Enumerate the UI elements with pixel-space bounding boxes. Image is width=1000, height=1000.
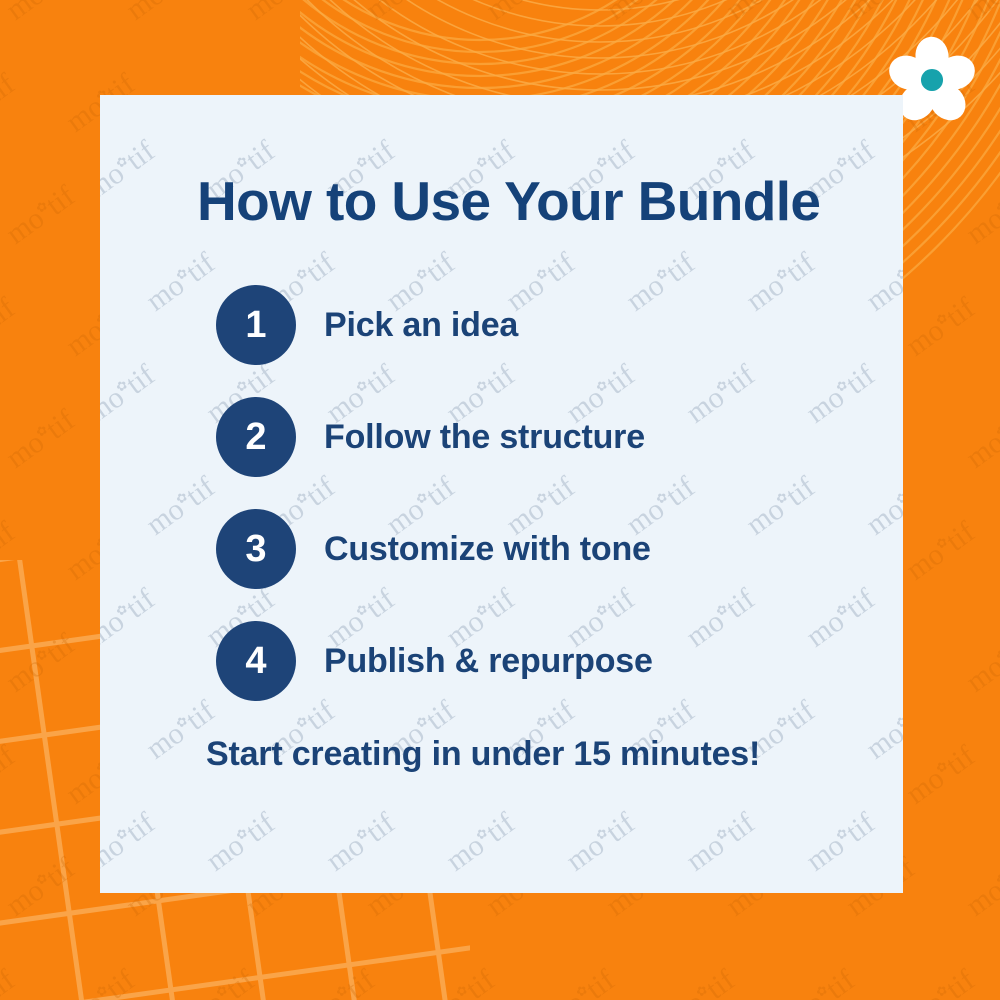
poster-canvas: mo✿tifmo✿tifmo✿tifmo✿tifmo✿tifmo✿tifmo✿t…	[0, 0, 1000, 1000]
watermark-motif: mo✿tif	[900, 515, 981, 587]
step-number-badge: 4	[216, 621, 296, 701]
watermark-motif: mo✿tif	[0, 627, 81, 699]
watermark-flower-dot: ✿	[33, 421, 51, 440]
watermark-motif: mo✿tif	[0, 291, 21, 363]
step-label: Customize with tone	[324, 530, 651, 569]
watermark-flower-dot: ✿	[933, 981, 951, 1000]
watermark-motif: mo✿tif	[840, 0, 921, 28]
watermark-flower-dot: ✿	[33, 645, 51, 664]
step-number-badge: 2	[216, 397, 296, 477]
list-item: 3 Customize with tone	[216, 509, 856, 589]
watermark-flower-dot: ✿	[93, 981, 111, 1000]
watermark-motif: mo✿tif	[960, 403, 1000, 475]
watermark-motif: mo✿tif	[900, 739, 981, 811]
watermark-motif: mo✿tif	[0, 403, 81, 475]
watermark-motif: mo✿tif	[900, 291, 981, 363]
watermark-motif: mo✿tif	[0, 851, 81, 923]
watermark-motif: mo✿tif	[300, 963, 381, 1000]
steps-list: 1 Pick an idea 2 Follow the structure 3 …	[216, 285, 856, 733]
watermark-motif: mo✿tif	[60, 963, 141, 1000]
watermark-motif: mo✿tif	[960, 627, 1000, 699]
card-content: How to Use Your Bundle 1 Pick an idea 2 …	[100, 95, 903, 893]
content-card: mo✿tifmo✿tifmo✿tifmo✿tifmo✿tifmo✿tifmo✿t…	[100, 95, 903, 893]
watermark-motif: mo✿tif	[0, 67, 21, 139]
watermark-motif: mo✿tif	[540, 963, 621, 1000]
watermark-flower-dot: ✿	[993, 197, 1000, 216]
watermark-motif: mo✿tif	[480, 0, 561, 28]
watermark-flower-dot: ✿	[933, 309, 951, 328]
watermark-motif: mo✿tif	[180, 963, 261, 1000]
step-label: Pick an idea	[324, 306, 518, 345]
watermark-flower-dot: ✿	[33, 197, 51, 216]
watermark-flower-dot: ✿	[993, 645, 1000, 664]
step-number-badge: 3	[216, 509, 296, 589]
watermark-flower-dot: ✿	[573, 981, 591, 1000]
watermark-motif: mo✿tif	[960, 851, 1000, 923]
watermark-flower-dot: ✿	[933, 757, 951, 776]
watermark-motif: mo✿tif	[960, 179, 1000, 251]
watermark-flower-dot: ✿	[693, 981, 711, 1000]
watermark-flower-dot: ✿	[813, 981, 831, 1000]
watermark-motif: mo✿tif	[360, 0, 441, 28]
watermark-flower-dot: ✿	[213, 981, 231, 1000]
watermark-motif: mo✿tif	[780, 963, 861, 1000]
watermark-motif: mo✿tif	[0, 515, 21, 587]
watermark-motif: mo✿tif	[0, 963, 21, 1000]
page-title: How to Use Your Bundle	[197, 173, 820, 231]
watermark-flower-dot: ✿	[333, 981, 351, 1000]
footer-cta-text: Start creating in under 15 minutes!	[206, 735, 760, 774]
watermark-motif: mo✿tif	[660, 963, 741, 1000]
watermark-motif: mo✿tif	[0, 739, 21, 811]
watermark-motif: mo✿tif	[600, 0, 681, 28]
watermark-motif: mo✿tif	[960, 0, 1000, 28]
list-item: 2 Follow the structure	[216, 397, 856, 477]
watermark-flower-dot: ✿	[993, 869, 1000, 888]
watermark-motif: mo✿tif	[120, 0, 201, 28]
watermark-flower-dot: ✿	[933, 533, 951, 552]
step-number-badge: 1	[216, 285, 296, 365]
step-label: Follow the structure	[324, 418, 645, 457]
watermark-motif: mo✿tif	[0, 0, 81, 28]
step-label: Publish & repurpose	[324, 642, 653, 681]
watermark-flower-dot: ✿	[33, 869, 51, 888]
watermark-flower-dot: ✿	[993, 421, 1000, 440]
watermark-motif: mo✿tif	[0, 179, 81, 251]
watermark-motif: mo✿tif	[900, 963, 981, 1000]
list-item: 4 Publish & repurpose	[216, 621, 856, 701]
watermark-motif: mo✿tif	[720, 0, 801, 28]
watermark-flower-dot: ✿	[453, 981, 471, 1000]
list-item: 1 Pick an idea	[216, 285, 856, 365]
watermark-motif: mo✿tif	[420, 963, 501, 1000]
watermark-motif: mo✿tif	[240, 0, 321, 28]
